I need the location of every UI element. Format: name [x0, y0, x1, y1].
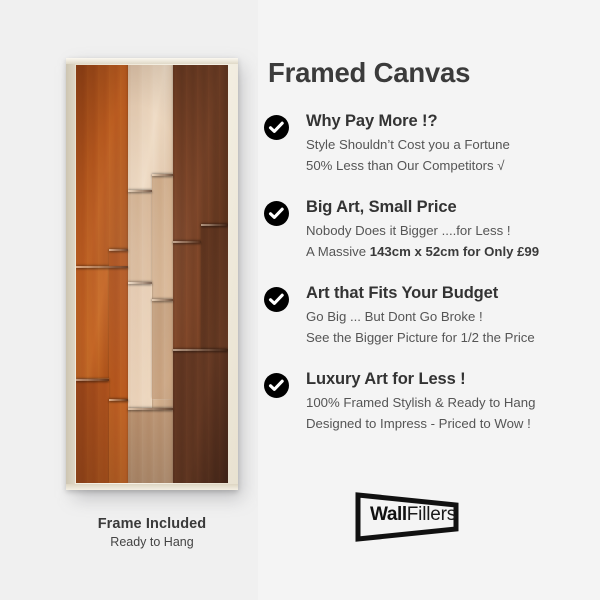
benefit-item: Why Pay More !? Style Shouldn’t Cost you… — [258, 113, 600, 185]
canvas-artwork — [76, 65, 228, 483]
brand-logo-text: WallFillers — [370, 505, 456, 524]
benefit-line-2-text: A Massive — [306, 244, 370, 259]
benefit-line-2-emphasis: 143cm x 52cm for Only £99 — [370, 244, 539, 259]
benefit-line-1: Go Big ... But Dont Go Broke ! — [306, 308, 600, 327]
check-circle-icon — [264, 287, 289, 312]
benefit-line-2-text: See the Bigger Picture for 1/2 the Price — [306, 330, 535, 345]
benefit-line-2: 50% Less than Our Competitors √ — [306, 157, 600, 176]
frame-left-depth-edge — [66, 62, 75, 490]
check-circle-icon — [264, 373, 289, 398]
benefit-title: Why Pay More !? — [306, 113, 600, 130]
frame-bottom-bevel — [66, 484, 238, 490]
brand-name-wall: Wall — [370, 504, 407, 525]
brand-name-fillers: Fillers — [407, 504, 456, 525]
benefit-line-1: 100% Framed Stylish & Ready to Hang — [306, 394, 600, 413]
benefit-item: Big Art, Small Price Nobody Does it Bigg… — [258, 199, 600, 271]
art-vignette — [76, 65, 228, 483]
benefit-line-2: See the Bigger Picture for 1/2 the Price — [306, 329, 600, 348]
brand-logo: WallFillers — [352, 492, 512, 544]
artwork-bands — [76, 65, 228, 483]
benefit-line-2-text: Designed to Impress - Priced to Wow ! — [306, 416, 531, 431]
product-image-stage: Frame Included Ready to Hang Framed Canv… — [0, 0, 600, 600]
check-circle-icon — [264, 115, 289, 140]
framed-canvas-figure: Frame Included Ready to Hang — [0, 0, 258, 600]
benefit-title: Luxury Art for Less ! — [306, 371, 600, 388]
benefit-line-2: A Massive 143cm x 52cm for Only £99 — [306, 243, 600, 262]
copy-panel: Framed Canvas Why Pay More !? Style Shou… — [258, 0, 600, 600]
benefit-line-2-text: 50% Less than Our Competitors √ — [306, 158, 505, 173]
benefits-list: Why Pay More !? Style Shouldn’t Cost you… — [258, 113, 600, 457]
benefit-item: Art that Fits Your Budget Go Big ... But… — [258, 285, 600, 357]
benefit-title: Big Art, Small Price — [306, 199, 600, 216]
check-circle-icon — [264, 201, 289, 226]
page-title: Framed Canvas — [268, 57, 470, 89]
frame-top-bevel — [66, 58, 238, 64]
benefit-item: Luxury Art for Less ! 100% Framed Stylis… — [258, 371, 600, 443]
benefit-line-1: Nobody Does it Bigger ....for Less ! — [306, 222, 600, 241]
benefit-title: Art that Fits Your Budget — [306, 285, 600, 302]
benefit-line-1: Style Shouldn’t Cost you a Fortune — [306, 136, 600, 155]
benefit-line-2: Designed to Impress - Priced to Wow ! — [306, 415, 600, 434]
